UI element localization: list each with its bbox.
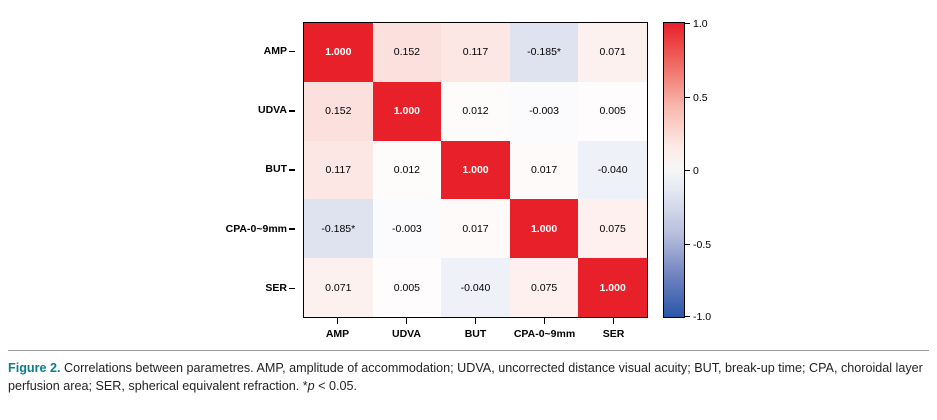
heatmap-cell-3-0: -0.185*: [304, 199, 373, 258]
y-tick-label-0: AMP: [177, 22, 287, 81]
heatmap-cell-4-2: -0.040: [441, 258, 510, 317]
heatmap-cell-2-4: -0.040: [578, 141, 647, 200]
heatmap-cell-3-3: 1.000: [510, 199, 579, 258]
heatmap-cell-4-4: 1.000: [578, 258, 647, 317]
heatmap-cell-0-0: 1.000: [304, 23, 373, 82]
x-tick-mark-4: [613, 318, 615, 324]
y-tick-label-2: BUT: [177, 140, 287, 199]
heatmap-cell-3-1: -0.003: [373, 199, 442, 258]
heatmap-cell-0-3: -0.185*: [510, 23, 579, 82]
figure-panel: AMP UDVA BUT CPA-0~9mm SER 1.000 0.152 0…: [0, 0, 937, 340]
heatmap-cell-2-2: 1.000: [441, 141, 510, 200]
heatmap-row: 1.000 0.152 0.117 -0.185* 0.071: [304, 23, 647, 82]
x-tick-mark-2: [475, 318, 477, 324]
heatmap-cell-2-1: 0.012: [373, 141, 442, 200]
y-tick-mark-3: [289, 228, 295, 230]
heatmap-row: 0.117 0.012 1.000 0.017 -0.040: [304, 141, 647, 200]
colorbar-label-3: -0.5: [693, 239, 711, 251]
y-axis-labels: AMP UDVA BUT CPA-0~9mm SER: [180, 22, 295, 318]
colorbar-gradient: [663, 22, 685, 318]
y-tick-mark-4: [289, 288, 295, 290]
caption-p-italic: p: [308, 379, 315, 393]
heatmap-cell-1-3: -0.003: [510, 82, 579, 141]
heatmap-cell-0-2: 0.117: [441, 23, 510, 82]
heatmap-cell-0-1: 0.152: [373, 23, 442, 82]
y-tick-label-1: UDVA: [177, 81, 287, 140]
colorbar-label-4: -1.0: [693, 311, 711, 323]
heatmap-cell-1-4: 0.005: [578, 82, 647, 141]
colorbar-tick-0: [685, 23, 690, 24]
x-tick-mark-1: [406, 318, 408, 324]
heatmap-cell-4-3: 0.075: [510, 258, 579, 317]
heatmap-cell-4-1: 0.005: [373, 258, 442, 317]
heatmap-cell-2-0: 0.117: [304, 141, 373, 200]
heatmap-plot: 1.000 0.152 0.117 -0.185* 0.071 0.152 1.…: [303, 22, 648, 318]
figure-label: Figure 2.: [8, 361, 60, 375]
heatmap-cell-2-3: 0.017: [510, 141, 579, 200]
x-tick-label-3: CPA-0~9mm: [510, 328, 579, 340]
colorbar-tick-2: [685, 170, 690, 171]
heatmap-cell-0-4: 0.071: [578, 23, 647, 82]
colorbar-tick-3: [685, 244, 690, 245]
x-tick-label-4: SER: [579, 328, 648, 340]
colorbar-label-1: 0.5: [693, 92, 708, 104]
x-axis-labels: AMP UDVA BUT CPA-0~9mm SER: [303, 318, 648, 342]
heatmap-cell-1-1: 1.000: [373, 82, 442, 141]
heatmap-row: 0.152 1.000 0.012 -0.003 0.005: [304, 82, 647, 141]
x-tick-label-1: UDVA: [372, 328, 441, 340]
colorbar-label-0: 1.0: [693, 18, 708, 30]
x-tick-mark-0: [337, 318, 339, 324]
heatmap-cell-1-0: 0.152: [304, 82, 373, 141]
y-tick-mark-2: [289, 169, 295, 171]
y-tick-label-3: CPA-0~9mm: [177, 200, 287, 259]
heatmap-cell-3-4: 0.075: [578, 199, 647, 258]
colorbar: 1.0 0.5 0 -0.5 -1.0: [663, 22, 725, 318]
x-tick-mark-3: [544, 318, 546, 324]
y-tick-label-4: SER: [177, 259, 287, 318]
heatmap-grid: 1.000 0.152 0.117 -0.185* 0.071 0.152 1.…: [304, 23, 647, 317]
heatmap-cell-1-2: 0.012: [441, 82, 510, 141]
x-tick-label-0: AMP: [303, 328, 372, 340]
caption-divider: [8, 350, 929, 351]
heatmap-cell-4-0: 0.071: [304, 258, 373, 317]
caption-text-1: Correlations between parametres. AMP, am…: [8, 361, 923, 393]
heatmap-row: 0.071 0.005 -0.040 0.075 1.000: [304, 258, 647, 317]
heatmap-row: -0.185* -0.003 0.017 1.000 0.075: [304, 199, 647, 258]
y-tick-mark-0: [289, 51, 295, 53]
colorbar-tick-4: [685, 316, 690, 317]
caption-text-2: < 0.05.: [315, 379, 357, 393]
figure-caption: Figure 2. Correlations between parametre…: [8, 360, 929, 395]
heatmap-cell-3-2: 0.017: [441, 199, 510, 258]
colorbar-label-2: 0: [693, 165, 699, 177]
colorbar-tick-1: [685, 97, 690, 98]
x-tick-label-2: BUT: [441, 328, 510, 340]
y-tick-mark-1: [289, 110, 295, 112]
